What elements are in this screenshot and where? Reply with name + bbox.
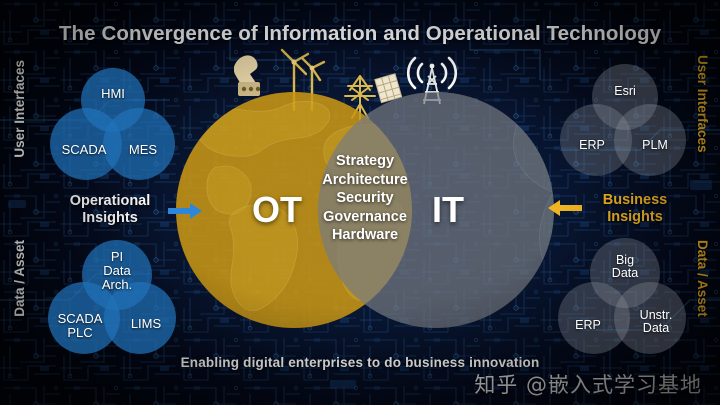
venn-label-mes: MES: [129, 143, 157, 157]
venn-label-plm: PLM: [642, 139, 668, 153]
ot-label: OT: [252, 189, 302, 231]
bottom-caption: Enabling digital enterprises to do busin…: [0, 355, 720, 370]
venn-label-lims: LIMS: [131, 317, 161, 331]
overlap-item: Hardware: [318, 226, 412, 245]
arrow-right-icon: [168, 203, 202, 224]
venn-label-erp-top: ERP: [579, 139, 605, 153]
venn-user-interfaces-left: HMI SCADA MES: [48, 68, 188, 188]
side-label-data-asset-left: Data / Asset: [12, 240, 27, 317]
overlap-item: Strategy: [318, 152, 412, 171]
venn-circle-pi-data-arch: PIDataArch.: [82, 240, 152, 310]
overlap-item: Architecture: [318, 171, 412, 190]
venn-label-hmi: HMI: [101, 87, 125, 101]
venn-label-scada: SCADA: [62, 143, 107, 157]
infographic-canvas: The Convergence of Information and Opera…: [0, 0, 720, 405]
venn-label-pi-data-arch: PIDataArch.: [102, 250, 132, 292]
arrow-left-icon: [548, 200, 582, 221]
venn-user-interfaces-right: Esri ERP PLM: [560, 64, 700, 182]
venn-label-erp-bottom: ERP: [575, 319, 601, 333]
page-title: The Convergence of Information and Opera…: [0, 22, 720, 46]
watermark-text: 知乎 @嵌入式学习基地: [474, 369, 702, 399]
venn-circle-esri: Esri: [592, 64, 658, 130]
overlap-item: Security: [318, 189, 412, 208]
side-label-user-interfaces-left: User Interfaces: [12, 60, 27, 158]
venn-label-esri: Esri: [614, 85, 636, 99]
operational-insights-label: OperationalInsights: [52, 193, 168, 228]
venn-label-scada-plc: SCADAPLC: [58, 312, 103, 340]
overlap-item: Governance: [318, 208, 412, 227]
venn-circle-hmi: HMI: [81, 68, 145, 132]
venn-label-big-data: BigData: [612, 254, 638, 281]
venn-data-asset-right: BigData ERP Unstr.Data: [558, 238, 700, 356]
center-venn-diagram: OT IT Strategy Architecture Security Gov…: [176, 92, 554, 336]
business-insights-label: BusinessInsights: [580, 192, 690, 227]
it-label: IT: [432, 189, 464, 231]
overlap-items-list: Strategy Architecture Security Governanc…: [318, 152, 412, 245]
venn-label-unstr-data: Unstr.Data: [640, 309, 673, 336]
venn-circle-big-data: BigData: [590, 238, 660, 308]
venn-data-asset-left: PIDataArch. SCADAPLC LIMS: [46, 240, 192, 352]
